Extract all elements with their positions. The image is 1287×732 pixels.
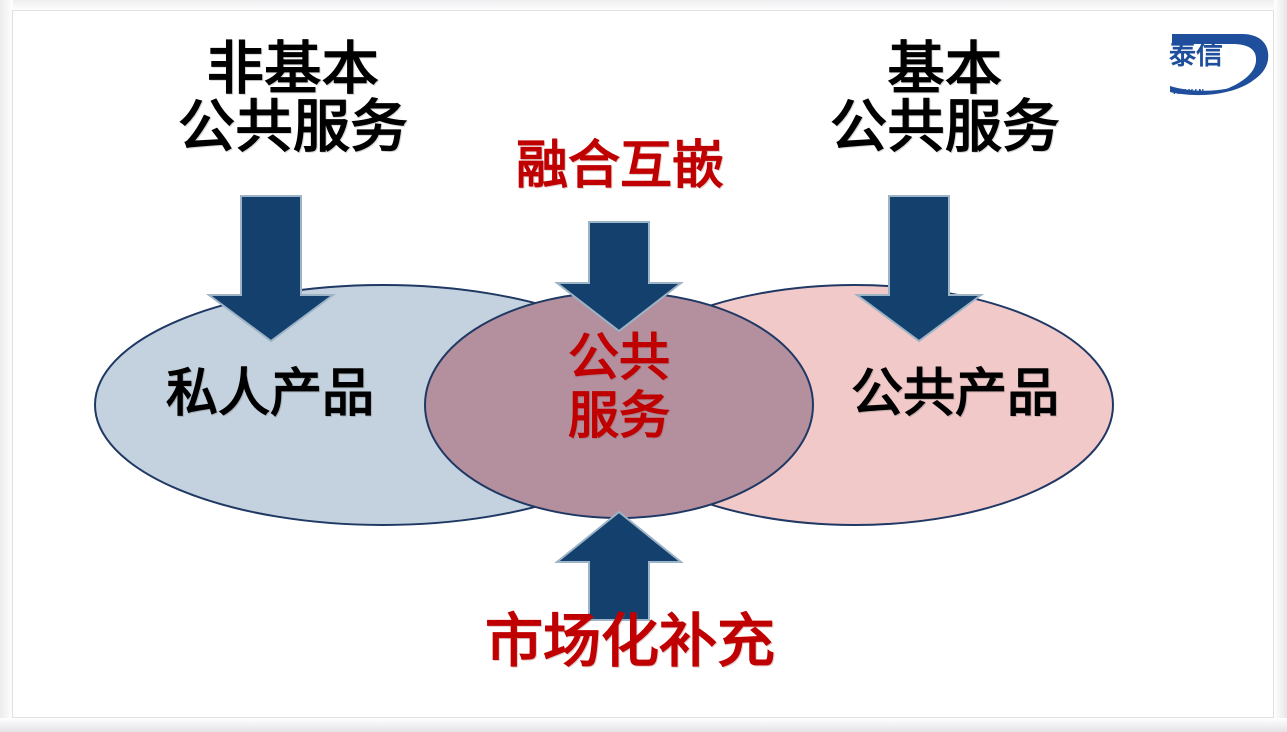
label-public-service-line2: 服务: [519, 388, 719, 446]
slide-canvas: 非基本 公共服务 基本 公共服务 融合互嵌 市场化补充 私人产品 公共产品 公共…: [0, 0, 1287, 732]
label-non-basic-line2: 公共服务: [148, 98, 438, 156]
label-public-product: 公共产品: [805, 368, 1105, 421]
label-basic-line1: 基本: [800, 40, 1090, 98]
logo-wordmark: 泰信: [1169, 40, 1223, 71]
label-public-service: 公共 服务: [519, 330, 719, 446]
label-fusion: 融合互嵌: [470, 140, 770, 193]
label-private-product: 私人产品: [120, 368, 420, 421]
label-non-basic-public-service: 非基本 公共服务: [148, 40, 438, 156]
label-public-service-line1: 公共: [519, 330, 719, 388]
label-non-basic-line1: 非基本: [148, 40, 438, 98]
label-basic-public-service: 基本 公共服务: [800, 40, 1090, 156]
label-market-supplement: 市场化补充: [430, 612, 830, 671]
logo-latin: TAIXIN: [1172, 88, 1205, 96]
arrow-market-up-icon: [557, 512, 681, 620]
taixin-logo: 泰信 TAIXIN: [1156, 22, 1274, 100]
label-basic-line2: 公共服务: [800, 98, 1090, 156]
